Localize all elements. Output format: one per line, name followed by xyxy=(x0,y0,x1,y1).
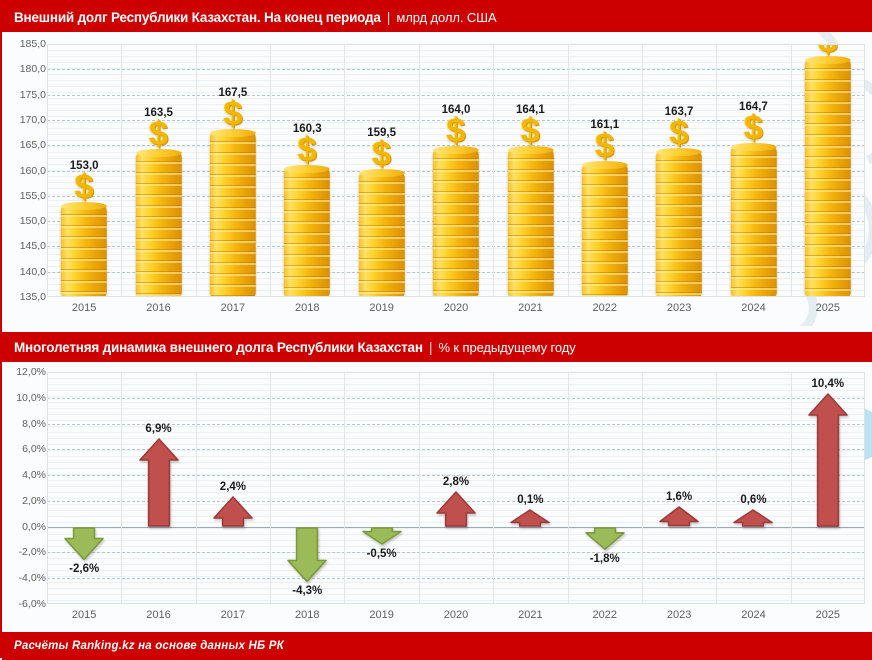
dollar-sign-icon: $ xyxy=(447,114,466,148)
x-axis-tick: 2025 xyxy=(816,609,840,621)
coin-stack-body: $163,5 xyxy=(136,153,182,297)
x-axis-tick: 2017 xyxy=(221,302,245,314)
x-axis-tick: 2017 xyxy=(221,609,245,621)
coin-stack-bar[interactable]: $161,1 xyxy=(568,165,642,297)
gridline xyxy=(47,372,865,373)
arrow-down-icon xyxy=(287,527,327,582)
x-axis-tick: 2019 xyxy=(369,302,393,314)
dollar-sign-icon: $ xyxy=(149,117,168,151)
arrow-value-label: -0,5% xyxy=(367,548,397,560)
coin-stack-bar[interactable]: $181,8 xyxy=(791,60,865,297)
coin-stack-body: $159,5 xyxy=(359,173,405,297)
coin-stack-body: $160,3 xyxy=(284,169,330,297)
coin-stack-bar[interactable]: $167,5 xyxy=(196,133,270,297)
x-axis-tick: 2019 xyxy=(369,609,393,621)
dollar-sign-icon: $ xyxy=(223,97,242,131)
arrow-value-label: 6,9% xyxy=(145,423,171,435)
y-axis-tick: -6,0% xyxy=(4,598,46,610)
coin-edges xyxy=(656,152,702,297)
arrow-value-label: 0,6% xyxy=(740,494,766,506)
coin-stack-body: $161,1 xyxy=(582,165,628,297)
arrow-value-label: -4,3% xyxy=(292,585,322,597)
category-separator xyxy=(196,372,197,604)
arrow-down-bar[interactable]: -2,6% xyxy=(64,527,104,561)
x-axis-tick: 2025 xyxy=(816,302,840,314)
coin-edges xyxy=(507,150,553,297)
y-axis-tick: 135,0 xyxy=(4,291,46,303)
coin-stack-body: $153,0 xyxy=(61,206,107,297)
y-axis-tick: 165,0 xyxy=(4,139,46,151)
arrow-up-bar[interactable]: 1,6% xyxy=(659,506,699,527)
arrow-up-bar[interactable]: 10,4% xyxy=(808,393,848,527)
gridline xyxy=(47,578,865,579)
arrow-up-icon xyxy=(213,496,253,527)
dollar-sign-icon: $ xyxy=(75,170,94,204)
category-separator xyxy=(419,372,420,604)
y-axis-debt: 185,0180,0175,0170,0165,0160,0155,0150,0… xyxy=(2,44,46,297)
coin-edges xyxy=(136,153,182,297)
bar-value-label: 163,7 xyxy=(665,106,694,118)
x-axis-debt: 2015201620172018201920202021202220232024… xyxy=(47,302,865,320)
bar-value-label: 163,5 xyxy=(144,107,173,119)
coin-stack-body: $163,7 xyxy=(656,152,702,297)
arrow-value-label: 2,4% xyxy=(220,481,246,493)
arrow-up-icon xyxy=(510,509,550,527)
arrow-up-bar[interactable]: 6,9% xyxy=(139,438,179,527)
y-axis-tick: 185,0 xyxy=(4,38,46,50)
category-separator xyxy=(121,372,122,604)
category-separator xyxy=(568,372,569,604)
coin-edges xyxy=(210,133,256,297)
x-axis-tick: 2020 xyxy=(444,609,468,621)
arrow-up-icon xyxy=(733,509,773,527)
x-axis-dynamics: 2015201620172018201920202021202220232024… xyxy=(47,609,865,627)
y-axis-tick: 0,0% xyxy=(4,521,46,533)
x-axis-tick: 2024 xyxy=(741,609,765,621)
coin-stack-body: $164,7 xyxy=(730,147,776,297)
arrow-up-icon xyxy=(659,506,699,527)
coin-stack-bar[interactable]: $164,0 xyxy=(419,150,493,297)
arrow-up-icon xyxy=(139,438,179,527)
y-axis-tick: 2,0% xyxy=(4,495,46,507)
gridline xyxy=(47,552,865,553)
bar-value-label: 164,1 xyxy=(516,104,545,116)
dollar-sign-icon: $ xyxy=(744,111,763,145)
coin-stack-bar[interactable]: $160,3 xyxy=(270,169,344,297)
x-axis-tick: 2021 xyxy=(518,302,542,314)
coin-stack-body: $181,8 xyxy=(805,60,851,297)
y-axis-tick: 145,0 xyxy=(4,240,46,252)
y-axis-tick: 175,0 xyxy=(4,89,46,101)
header-title-debt: Внешний долг Республики Казахстан. На ко… xyxy=(14,10,381,25)
coin-stack-bar[interactable]: $163,5 xyxy=(121,153,195,297)
y-axis-tick: 8,0% xyxy=(4,418,46,430)
dollar-sign-icon: $ xyxy=(372,137,391,171)
dollar-sign-icon: $ xyxy=(595,129,614,163)
footer-source-text: Расчёты Ranking.kz на основе данных НБ Р… xyxy=(14,640,284,652)
category-separator xyxy=(493,372,494,604)
arrow-value-label: 1,6% xyxy=(666,491,692,503)
bar-value-label: 159,5 xyxy=(367,127,396,139)
chart-debt-dynamics: 12,0%10,0%8,0%6,0%4,0%2,0%0,0%-2,0%-4,0%… xyxy=(2,362,872,632)
x-axis-tick: 2018 xyxy=(295,302,319,314)
arrow-up-icon xyxy=(808,393,848,527)
category-separator xyxy=(791,372,792,604)
coin-stack-bar[interactable]: $163,7 xyxy=(642,152,716,297)
arrow-value-label: 0,1% xyxy=(517,494,543,506)
x-axis-tick: 2016 xyxy=(146,302,170,314)
arrow-up-bar[interactable]: 0,1% xyxy=(510,509,550,527)
y-axis-dynamics: 12,0%10,0%8,0%6,0%4,0%2,0%0,0%-2,0%-4,0%… xyxy=(2,372,46,604)
coin-stack-bar[interactable]: $164,1 xyxy=(493,150,567,297)
bar-value-label: 167,5 xyxy=(219,87,248,99)
y-axis-tick: -2,0% xyxy=(4,546,46,558)
y-axis-tick: 12,0% xyxy=(4,366,46,378)
x-axis-tick: 2022 xyxy=(592,302,616,314)
header-title-dynamics: Многолетняя динамика внешнего долга Респ… xyxy=(14,340,423,355)
arrow-up-icon xyxy=(436,491,476,527)
arrow-down-icon xyxy=(64,527,104,561)
coin-stack-bar[interactable]: $164,7 xyxy=(716,147,790,297)
gridline xyxy=(47,398,865,399)
footer-source-banner: Расчёты Ranking.kz на основе данных НБ Р… xyxy=(2,632,872,660)
bar-value-label: 153,0 xyxy=(70,160,99,172)
y-axis-tick: 6,0% xyxy=(4,443,46,455)
bar-value-label: 160,3 xyxy=(293,123,322,135)
x-axis-tick: 2018 xyxy=(295,609,319,621)
dollar-sign-icon: $ xyxy=(521,114,540,148)
arrow-up-bar[interactable]: 2,4% xyxy=(213,496,253,527)
arrow-up-bar[interactable]: 2,8% xyxy=(436,491,476,527)
coin-stack-body: $164,0 xyxy=(433,150,479,297)
bar-value-label: 161,1 xyxy=(590,119,619,131)
arrow-value-label: -1,8% xyxy=(590,553,620,565)
header-separator-dynamics: | xyxy=(429,339,433,355)
plot-area-dynamics: -2,6%6,9%2,4%-4,3%-0,5%2,8%0,1%-1,8%1,6%… xyxy=(47,372,865,604)
coin-stack-bar[interactable]: $153,0 xyxy=(47,206,121,297)
y-axis-tick: 4,0% xyxy=(4,469,46,481)
bar-value-label: 164,0 xyxy=(442,104,471,116)
chart-external-debt: 185,0180,0175,0170,0165,0160,0155,0150,0… xyxy=(2,32,872,332)
coin-edges xyxy=(359,173,405,297)
y-axis-tick: 155,0 xyxy=(4,190,46,202)
x-axis-tick: 2015 xyxy=(72,609,96,621)
y-axis-tick: 180,0 xyxy=(4,63,46,75)
y-axis-tick: 160,0 xyxy=(4,165,46,177)
dollar-sign-icon: $ xyxy=(670,116,689,150)
x-axis-tick: 2024 xyxy=(741,302,765,314)
coin-edges xyxy=(433,150,479,297)
zero-line xyxy=(47,527,865,528)
header-units-debt: млрд долл. США xyxy=(396,10,496,25)
arrow-down-icon xyxy=(362,527,402,545)
x-axis-tick: 2020 xyxy=(444,302,468,314)
x-axis-tick: 2022 xyxy=(592,609,616,621)
y-axis-tick: 170,0 xyxy=(4,114,46,126)
bar-value-label: 164,7 xyxy=(739,101,768,113)
x-axis-tick: 2023 xyxy=(667,609,691,621)
x-axis-tick: 2015 xyxy=(72,302,96,314)
y-axis-tick: -4,0% xyxy=(4,572,46,584)
y-axis-tick: 140,0 xyxy=(4,266,46,278)
coin-edges xyxy=(284,169,330,297)
coin-stack-bar[interactable]: $159,5 xyxy=(344,173,418,297)
gridline xyxy=(47,44,865,45)
category-separator xyxy=(270,372,271,604)
category-separator xyxy=(344,372,345,604)
infographic-root: Внешний долг Республики Казахстан. На ко… xyxy=(0,0,872,658)
plot-area-debt: $153,0$163,5$167,5$160,3$159,5$164,0$164… xyxy=(47,44,865,297)
y-axis-tick: 10,0% xyxy=(4,392,46,404)
x-axis-tick: 2023 xyxy=(667,302,691,314)
arrow-up-bar[interactable]: 0,6% xyxy=(733,509,773,527)
arrow-value-label: 2,8% xyxy=(443,476,469,488)
coin-edges xyxy=(582,165,628,297)
arrow-down-icon xyxy=(585,527,625,550)
coin-edges xyxy=(61,206,107,297)
dollar-sign-icon: $ xyxy=(818,44,837,58)
gridline xyxy=(47,69,865,70)
dollar-sign-icon: $ xyxy=(298,133,317,167)
coin-stack-body: $167,5 xyxy=(210,133,256,297)
arrow-down-bar[interactable]: -0,5% xyxy=(362,527,402,545)
arrow-down-bar[interactable]: -1,8% xyxy=(585,527,625,550)
gridline xyxy=(47,95,865,96)
header-units-dynamics: % к предыдущему году xyxy=(438,340,575,355)
header-separator-debt: | xyxy=(387,9,391,25)
category-separator xyxy=(716,372,717,604)
coin-stack-body: $164,1 xyxy=(507,150,553,297)
arrow-value-label: 10,4% xyxy=(812,378,845,390)
y-axis-tick: 150,0 xyxy=(4,215,46,227)
category-separator xyxy=(642,372,643,604)
arrow-value-label: -2,6% xyxy=(69,563,99,575)
header-banner-debt: Внешний долг Республики Казахстан. На ко… xyxy=(2,2,872,32)
coin-edges xyxy=(730,147,776,297)
header-banner-dynamics: Многолетняя динамика внешнего долга Респ… xyxy=(2,332,872,362)
coin-edges xyxy=(805,60,851,297)
x-axis-tick: 2021 xyxy=(518,609,542,621)
x-axis-tick: 2016 xyxy=(146,609,170,621)
arrow-down-bar[interactable]: -4,3% xyxy=(287,527,327,582)
